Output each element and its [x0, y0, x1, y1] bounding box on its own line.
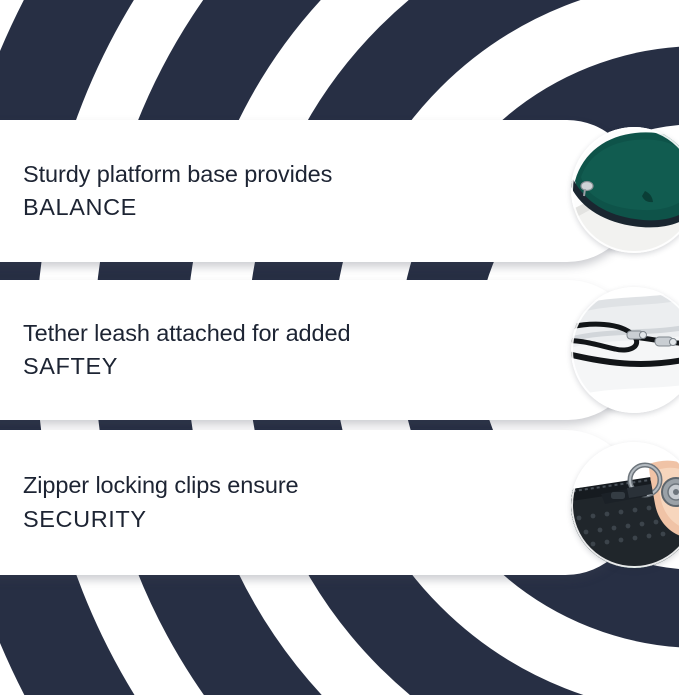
feature-card-security-text: Zipper locking clips ensure SECURITY [0, 469, 299, 536]
feature-infographic: Sturdy platform base provides BALANCE T [0, 0, 679, 695]
feature-card-security-lead: Zipper locking clips ensure [23, 469, 299, 502]
feature-card-safety-emphasis: SAFTEY [23, 350, 350, 383]
feature-card-safety-lead: Tether leash attached for added [23, 317, 350, 350]
feature-card-balance-emphasis: BALANCE [23, 191, 332, 224]
feature-card-security-emphasis: SECURITY [23, 503, 299, 536]
feature-card-safety-text: Tether leash attached for added SAFTEY [0, 317, 350, 384]
feature-card-safety[interactable]: Tether leash attached for added SAFTEY [0, 280, 638, 420]
feature-card-balance-text: Sturdy platform base provides BALANCE [0, 158, 332, 225]
feature-card-balance-lead: Sturdy platform base provides [23, 158, 332, 191]
feature-card-security[interactable]: Zipper locking clips ensure SECURITY [0, 430, 638, 575]
feature-card-balance[interactable]: Sturdy platform base provides BALANCE [0, 120, 638, 262]
